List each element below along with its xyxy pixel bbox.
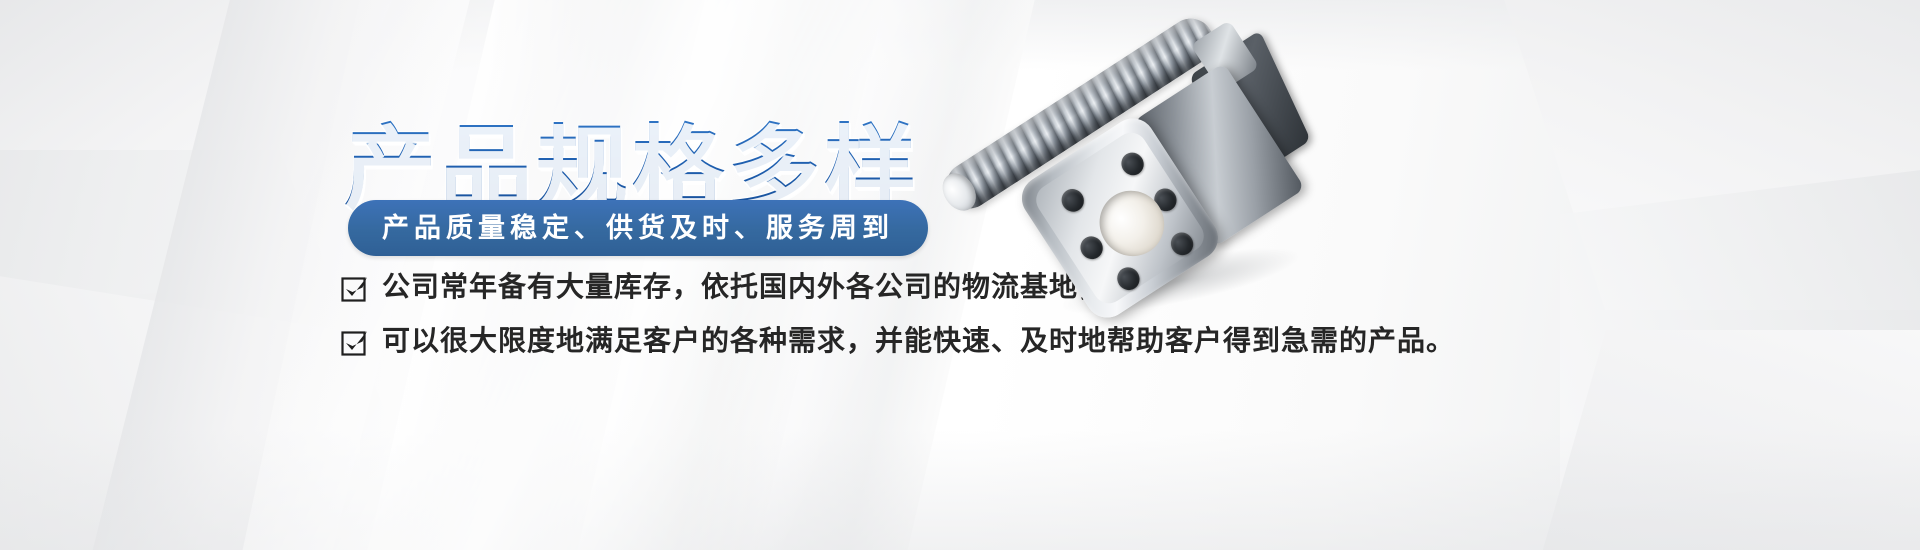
- promo-banner: 产品规格多样 产品质量稳定、供货及时、服务周到 公司常年备有大量库存，依托国内外…: [0, 0, 1920, 550]
- bolt-hole: [1167, 228, 1198, 259]
- screw-end-cap: [936, 167, 983, 217]
- checkbox-check-icon: [340, 274, 370, 304]
- bolt-hole: [1117, 148, 1148, 179]
- bolt-hole: [1057, 185, 1088, 216]
- product-photo: [940, 10, 1360, 340]
- checkbox-check-icon: [340, 328, 370, 358]
- bolt-hole: [1113, 263, 1144, 294]
- tagline-pill: 产品质量稳定、供货及时、服务周到: [348, 200, 928, 256]
- tagline-text: 产品质量稳定、供货及时、服务周到: [382, 215, 894, 242]
